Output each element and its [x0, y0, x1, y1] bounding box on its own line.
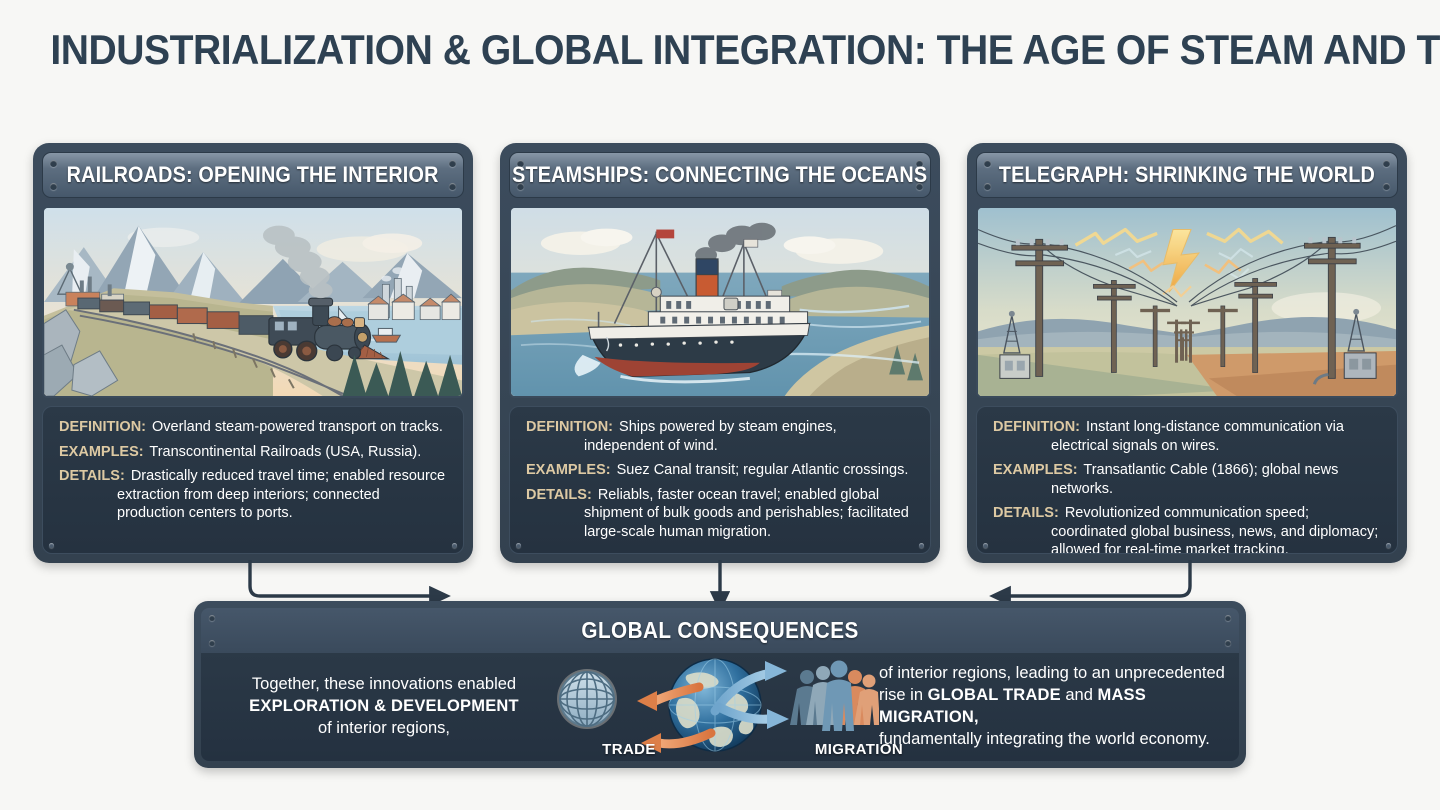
- rivet-icon: [1225, 615, 1231, 621]
- fact-examples: EXAMPLES: Transcontinental Railroads (US…: [59, 443, 447, 462]
- consequences-left-strong: EXPLORATION & DEVELOPMENT: [219, 696, 549, 718]
- fact-label: DETAILS:: [526, 487, 594, 503]
- connector-telegraph-to-consequences: [1000, 560, 1190, 596]
- fact-details: DETAILS: Reliabls, faster ocean travel; …: [526, 486, 914, 542]
- fact-text: Transcontinental Railroads (USA, Russia)…: [149, 444, 421, 460]
- card-body-telegraph: DEFINITION: Instant long-distance commun…: [976, 406, 1398, 554]
- rivet-icon: [209, 615, 215, 621]
- rivet-icon: [50, 160, 57, 167]
- rivet-icon: [983, 543, 988, 548]
- consequences-right-line1: of interior regions, leading to an unpre…: [879, 663, 1231, 685]
- fact-label: DETAILS:: [59, 468, 127, 484]
- fact-label: EXAMPLES:: [526, 462, 613, 478]
- fact-text: Instant long-distance communication via …: [1051, 419, 1344, 454]
- rivet-icon: [919, 543, 924, 548]
- rivet-icon: [1383, 160, 1390, 167]
- consequences-text-right: of interior regions, leading to an unpre…: [879, 663, 1231, 751]
- card-telegraph[interactable]: TELEGRAPH: SHRINKING THE WORLD: [967, 143, 1407, 563]
- rivet-icon: [50, 183, 57, 190]
- rivet-icon: [516, 543, 521, 548]
- card-header-railroads: RAILROADS: OPENING THE INTERIOR: [42, 152, 464, 198]
- fact-definition: DEFINITION: Overland steam-powered trans…: [59, 418, 447, 437]
- fact-label: DEFINITION:: [993, 419, 1082, 435]
- right-line2-mid: and: [1061, 686, 1098, 704]
- fact-text: Revolutionized communication speed; coor…: [1051, 505, 1378, 554]
- rivet-icon: [209, 640, 215, 646]
- trade-label: TRADE: [584, 741, 674, 758]
- fact-text: Transatlantic Cable (1866); global news …: [1051, 462, 1338, 497]
- card-header-telegraph: TELEGRAPH: SHRINKING THE WORLD: [976, 152, 1398, 198]
- rivet-icon: [1386, 543, 1391, 548]
- fact-text: Reliabls, faster ocean travel; enabled g…: [584, 487, 909, 540]
- consequences-left-line3: of interior regions,: [219, 718, 549, 740]
- page-title: INDUSTRIALIZATION & GLOBAL INTEGRATION: …: [50, 26, 1389, 74]
- consequences-text-left: Together, these innovations enabled EXPL…: [219, 674, 549, 740]
- card-title: TELEGRAPH: SHRINKING THE WORLD: [999, 162, 1375, 188]
- card-title: STEAMSHIPS: CONNECTING THE OCEANS: [512, 162, 927, 188]
- card-body-railroads: DEFINITION: Overland steam-powered trans…: [42, 406, 464, 554]
- fact-label: DEFINITION:: [59, 419, 148, 435]
- steamship-ocean-strait-illustration: [509, 206, 931, 398]
- fact-details: DETAILS: Revolutionized communication sp…: [993, 504, 1381, 554]
- right-line2-pre: rise in: [879, 686, 928, 704]
- wireframe-globe-icon: [557, 669, 617, 729]
- fact-label: EXAMPLES:: [59, 444, 146, 460]
- fact-label: DETAILS:: [993, 505, 1061, 521]
- fact-definition: DEFINITION: Instant long-distance commun…: [993, 418, 1381, 455]
- fact-label: EXAMPLES:: [993, 462, 1080, 478]
- card-body-steamships: DEFINITION: Ships powered by steam engin…: [509, 406, 931, 554]
- rivet-icon: [1383, 183, 1390, 190]
- fact-definition: DEFINITION: Ships powered by steam engin…: [526, 418, 914, 455]
- fact-text: Overland steam-powered transport on trac…: [152, 419, 443, 435]
- consequences-right-line2: rise in GLOBAL TRADE and MASS MIGRATION,: [879, 685, 1231, 729]
- fact-text: Ships powered by steam engines, independ…: [584, 419, 837, 454]
- global-consequences-title: GLOBAL CONSEQUENCES: [581, 617, 858, 644]
- card-header-steamships: STEAMSHIPS: CONNECTING THE OCEANS: [509, 152, 931, 198]
- telegraph-poles-lightning-illustration: [976, 206, 1398, 398]
- card-title: RAILROADS: OPENING THE INTERIOR: [67, 162, 439, 188]
- consequences-right-line3: fundamentally integrating the world econ…: [879, 729, 1231, 751]
- rivet-icon: [449, 183, 456, 190]
- card-steamships[interactable]: STEAMSHIPS: CONNECTING THE OCEANS: [500, 143, 940, 563]
- rivet-icon: [452, 543, 457, 548]
- fact-text: Drastically reduced travel time; enabled…: [117, 468, 445, 521]
- rivet-icon: [49, 543, 54, 548]
- rivet-icon: [984, 183, 991, 190]
- fact-label: DEFINITION:: [526, 419, 615, 435]
- rivet-icon: [984, 160, 991, 167]
- global-consequences-panel[interactable]: GLOBAL CONSEQUENCES Together, these inno…: [194, 601, 1246, 768]
- fact-examples: EXAMPLES: Suez Canal transit; regular At…: [526, 461, 914, 480]
- fact-details: DETAILS: Drastically reduced travel time…: [59, 467, 447, 523]
- card-railroads[interactable]: RAILROADS: OPENING THE INTERIOR: [33, 143, 473, 563]
- global-consequences-header: GLOBAL CONSEQUENCES: [201, 608, 1239, 653]
- steam-train-mountain-harbor-illustration: [42, 206, 464, 398]
- connector-railroads-to-consequences: [250, 560, 440, 596]
- rivet-icon: [449, 160, 456, 167]
- right-line2-strong-trade: GLOBAL TRADE: [928, 686, 1061, 704]
- rivet-icon: [1225, 640, 1231, 646]
- fact-text: Suez Canal transit; regular Atlantic cro…: [617, 462, 909, 478]
- consequences-left-line1: Together, these innovations enabled: [219, 674, 549, 696]
- fact-examples: EXAMPLES: Transatlantic Cable (1866); gl…: [993, 461, 1381, 498]
- global-consequences-body: Together, these innovations enabled EXPL…: [201, 653, 1239, 761]
- people-group-icon: [790, 661, 879, 732]
- migration-label: MIGRATION: [794, 741, 924, 758]
